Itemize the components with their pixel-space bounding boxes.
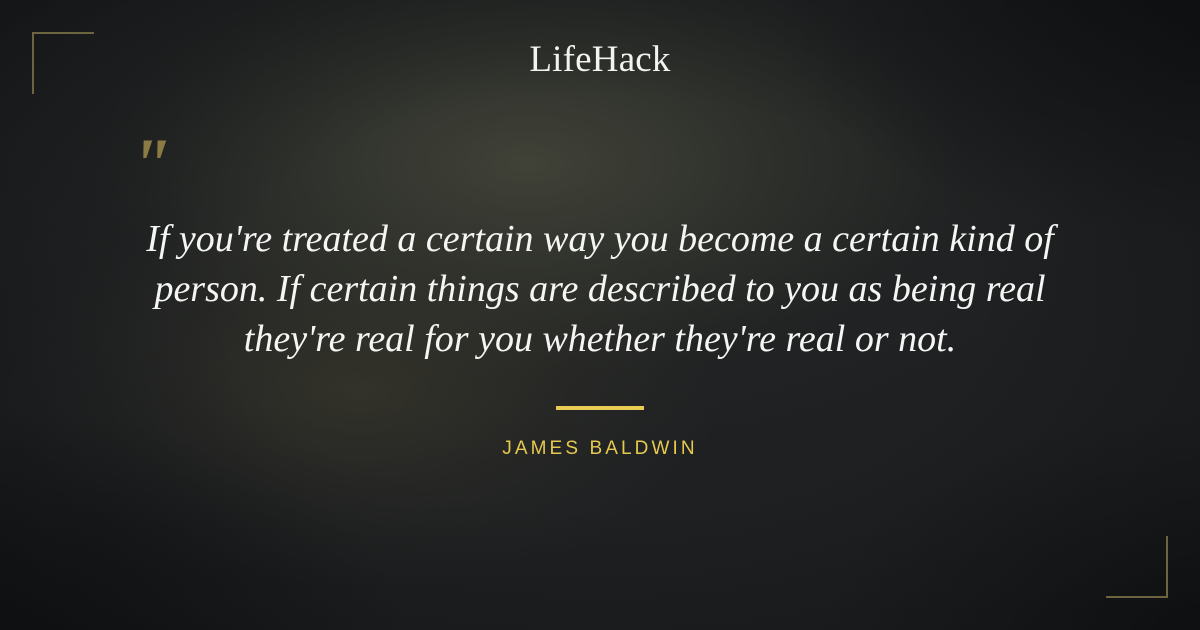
author-divider <box>556 406 644 410</box>
quote-text: If you're treated a certain way you beco… <box>80 214 1120 364</box>
author-name: JAMES BALDWIN <box>0 438 1200 460</box>
quote-line: they're real for you whether they're rea… <box>80 314 1120 364</box>
quote-line: If you're treated a certain way you beco… <box>80 214 1120 264</box>
quote-card: LifeHack " If you're treated a certain w… <box>0 0 1200 630</box>
quote-line: person. If certain things are described … <box>80 264 1120 314</box>
opening-quote-mark-icon: " <box>130 128 171 202</box>
brand-logo[interactable]: LifeHack <box>0 38 1200 81</box>
card-content: LifeHack " If you're treated a certain w… <box>0 0 1200 630</box>
